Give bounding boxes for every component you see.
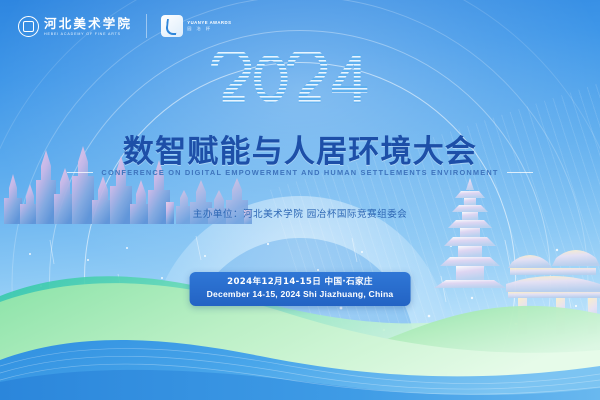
date-english: December 14-15, 2024 Shi Jiazhuang, Chin…: [207, 289, 394, 301]
awards-logo[interactable]: YUANYE AWARDS 园 冶 杯: [161, 15, 231, 37]
page-title: 数智赋能与人居环境大会: [0, 126, 600, 171]
organizer-line: 主办单位：河北美术学院 园冶杯国际竞赛组委会: [0, 206, 600, 220]
subtitle-rule-left: [67, 172, 93, 173]
page-subtitle: CONFERENCE ON DIGITAL EMPOWERMENT AND HU…: [101, 168, 498, 177]
academy-name-cn: 河北美术学院: [44, 18, 132, 31]
academy-logo[interactable]: 河北美术学院 HEBEI ACADEMY OF FINE ARTS: [18, 16, 132, 37]
logo-group: 河北美术学院 HEBEI ACADEMY OF FINE ARTS YUANYE…: [18, 14, 232, 38]
yuanye-leaf-icon: [161, 15, 183, 37]
year-display: [0, 52, 600, 119]
awards-name-cn: 园 冶 杯: [187, 27, 231, 31]
subtitle-rule-right: [507, 172, 533, 173]
circle-seal-icon: [18, 16, 39, 37]
year-2024-graphic: [210, 52, 390, 114]
academy-name-en: HEBEI ACADEMY OF FINE ARTS: [44, 33, 132, 37]
subtitle-row: CONFERENCE ON DIGITAL EMPOWERMENT AND HU…: [0, 168, 600, 177]
banner-content: 河北美术学院 HEBEI ACADEMY OF FINE ARTS YUANYE…: [0, 0, 600, 400]
logo-divider: [146, 14, 147, 38]
conference-banner: 河北美术学院 HEBEI ACADEMY OF FINE ARTS YUANYE…: [0, 0, 600, 400]
date-badge: 2024年12月14-15日 中国·石家庄 December 14-15, 20…: [190, 272, 411, 306]
date-chinese: 2024年12月14-15日 中国·石家庄: [207, 277, 394, 289]
